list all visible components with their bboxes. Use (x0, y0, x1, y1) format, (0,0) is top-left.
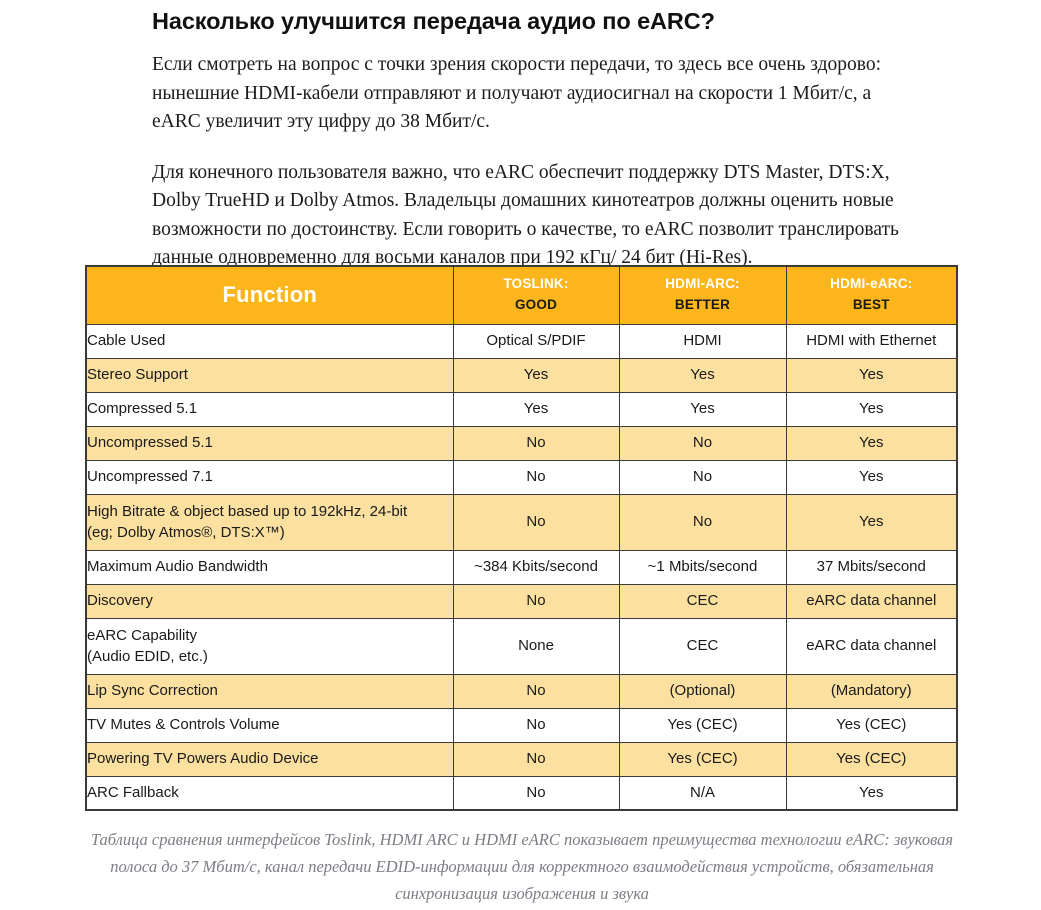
cell-hdmi-arc: Yes (619, 392, 786, 426)
cell-hdmi-earc: (Mandatory) (786, 674, 957, 708)
cell-hdmi-arc: No (619, 426, 786, 460)
article-page: Насколько улучшится передача аудио по eA… (0, 0, 1041, 910)
column-header-toslink-name: TOSLINK: (454, 274, 619, 295)
cell-hdmi-earc: Yes (786, 358, 957, 392)
column-header-hdmi-arc-name: HDMI-ARC: (620, 274, 786, 295)
cell-hdmi-arc: Yes (CEC) (619, 708, 786, 742)
cell-toslink: No (453, 708, 619, 742)
column-header-hdmi-earc-name: HDMI-eARC: (787, 274, 957, 295)
column-header-hdmi-arc: HDMI-ARC: BETTER (619, 266, 786, 324)
cell-toslink: No (453, 460, 619, 494)
cell-hdmi-arc: Yes (CEC) (619, 742, 786, 776)
cell-hdmi-earc: HDMI with Ethernet (786, 324, 957, 358)
cell-hdmi-earc: eARC data channel (786, 584, 957, 618)
table-row: ARC Fallback No N/A Yes (86, 776, 957, 810)
table-row: Uncompressed 5.1 No No Yes (86, 426, 957, 460)
cell-hdmi-arc: HDMI (619, 324, 786, 358)
cell-hdmi-earc: eARC data channel (786, 618, 957, 674)
cell-hdmi-arc: (Optional) (619, 674, 786, 708)
table-row: Compressed 5.1 Yes Yes Yes (86, 392, 957, 426)
cell-hdmi-arc: No (619, 494, 786, 550)
table-row: Lip Sync Correction No (Optional) (Manda… (86, 674, 957, 708)
table-row: Maximum Audio Bandwidth ~384 Kbits/secon… (86, 550, 957, 584)
row-label: Uncompressed 7.1 (86, 460, 453, 494)
cell-hdmi-arc: ~1 Mbits/second (619, 550, 786, 584)
column-header-toslink-rating: GOOD (454, 295, 619, 316)
row-label: eARC Capability (Audio EDID, etc.) (86, 618, 453, 674)
row-label-line1: eARC Capability (87, 627, 197, 644)
cell-toslink: No (453, 674, 619, 708)
cell-toslink: Yes (453, 358, 619, 392)
cell-hdmi-arc: CEC (619, 618, 786, 674)
table-header-row: Function TOSLINK: GOOD HDMI-ARC: BETTER … (86, 266, 957, 324)
table-row: Cable Used Optical S/PDIF HDMI HDMI with… (86, 324, 957, 358)
row-label: Discovery (86, 584, 453, 618)
cell-hdmi-earc: Yes (786, 392, 957, 426)
column-header-hdmi-earc: HDMI-eARC: BEST (786, 266, 957, 324)
cell-toslink: No (453, 426, 619, 460)
article-paragraph-1: Если смотреть на вопрос с точки зрения с… (152, 51, 909, 137)
row-label: ARC Fallback (86, 776, 453, 810)
table-row: Discovery No CEC eARC data channel (86, 584, 957, 618)
column-header-hdmi-arc-rating: BETTER (620, 295, 786, 316)
row-label: Maximum Audio Bandwidth (86, 550, 453, 584)
row-label: Lip Sync Correction (86, 674, 453, 708)
article-paragraph-2: Для конечного пользователя важно, что eA… (152, 159, 909, 273)
cell-hdmi-arc: No (619, 460, 786, 494)
cell-hdmi-earc: 37 Mbits/second (786, 550, 957, 584)
table-row: eARC Capability (Audio EDID, etc.) None … (86, 618, 957, 674)
row-label: Uncompressed 5.1 (86, 426, 453, 460)
cell-toslink: No (453, 776, 619, 810)
cell-toslink: No (453, 494, 619, 550)
row-label-line1: High Bitrate & object based up to 192kHz… (87, 503, 407, 520)
row-label: Powering TV Powers Audio Device (86, 742, 453, 776)
cell-hdmi-earc: Yes (CEC) (786, 742, 957, 776)
row-label: Compressed 5.1 (86, 392, 453, 426)
cell-hdmi-earc: Yes (786, 460, 957, 494)
table-row: Powering TV Powers Audio Device No Yes (… (86, 742, 957, 776)
column-header-toslink: TOSLINK: GOOD (453, 266, 619, 324)
row-label: Cable Used (86, 324, 453, 358)
audio-interface-comparison-table: Function TOSLINK: GOOD HDMI-ARC: BETTER … (85, 265, 958, 811)
row-label: TV Mutes & Controls Volume (86, 708, 453, 742)
cell-toslink: Optical S/PDIF (453, 324, 619, 358)
cell-hdmi-earc: Yes (786, 426, 957, 460)
article-text-block: Насколько улучшится передача аудио по eA… (152, 0, 909, 273)
cell-hdmi-earc: Yes (CEC) (786, 708, 957, 742)
cell-hdmi-arc: N/A (619, 776, 786, 810)
table-caption: Таблица сравнения интерфейсов Toslink, H… (72, 826, 972, 907)
cell-hdmi-arc: CEC (619, 584, 786, 618)
column-header-function: Function (86, 266, 453, 324)
cell-hdmi-earc: Yes (786, 776, 957, 810)
cell-toslink: ~384 Kbits/second (453, 550, 619, 584)
row-label: Stereo Support (86, 358, 453, 392)
cell-hdmi-earc: Yes (786, 494, 957, 550)
cell-hdmi-arc: Yes (619, 358, 786, 392)
cell-toslink: No (453, 742, 619, 776)
row-label-line2: (eg; Dolby Atmos®, DTS:X™) (87, 524, 285, 541)
table-row: High Bitrate & object based up to 192kHz… (86, 494, 957, 550)
column-header-hdmi-earc-rating: BEST (787, 295, 957, 316)
table-row: TV Mutes & Controls Volume No Yes (CEC) … (86, 708, 957, 742)
table-row: Uncompressed 7.1 No No Yes (86, 460, 957, 494)
comparison-table-container: Function TOSLINK: GOOD HDMI-ARC: BETTER … (85, 265, 956, 811)
cell-toslink: Yes (453, 392, 619, 426)
page-title: Насколько улучшится передача аудио по eA… (152, 0, 909, 36)
cell-toslink: None (453, 618, 619, 674)
row-label: High Bitrate & object based up to 192kHz… (86, 494, 453, 550)
table-row: Stereo Support Yes Yes Yes (86, 358, 957, 392)
row-label-line2: (Audio EDID, etc.) (87, 648, 208, 665)
cell-toslink: No (453, 584, 619, 618)
